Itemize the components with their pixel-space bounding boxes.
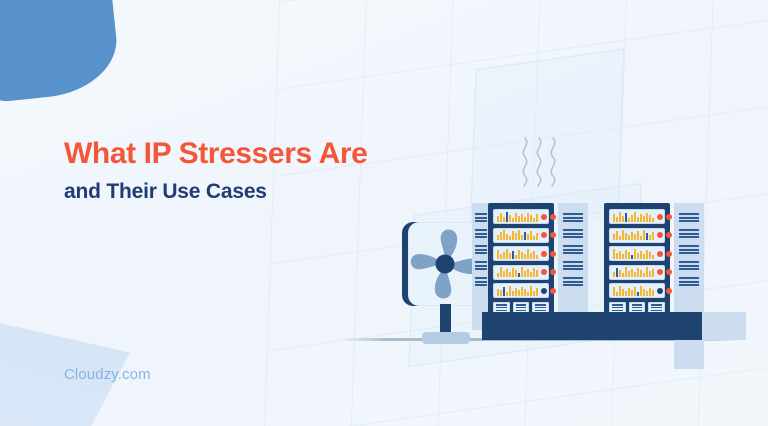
activity-bars <box>497 212 538 222</box>
status-leds <box>541 288 556 294</box>
status-leds <box>657 269 672 275</box>
decorative-blob-top-left <box>0 0 122 106</box>
status-leds <box>541 251 556 257</box>
fan-base <box>422 332 470 344</box>
activity-bars <box>497 286 538 296</box>
status-leds <box>657 232 672 238</box>
server-unit <box>493 228 549 243</box>
side-panel-right <box>674 203 704 369</box>
grid-line-horizontal <box>279 0 768 3</box>
status-leds <box>541 232 556 238</box>
grid-line-horizontal <box>276 11 768 90</box>
server-rack-right <box>604 203 670 330</box>
server-unit <box>609 265 665 280</box>
banner-graphic: What IP Stressers Are and Their Use Case… <box>0 0 768 426</box>
status-leds <box>541 214 556 220</box>
status-leds <box>657 251 672 257</box>
server-rack-left <box>488 203 554 330</box>
activity-bars <box>613 230 654 240</box>
illustration-server-racks <box>380 110 740 360</box>
status-leds <box>657 288 672 294</box>
server-unit <box>493 283 549 298</box>
side-panel-middle <box>558 203 588 330</box>
activity-bars <box>497 249 538 259</box>
server-unit <box>609 228 665 243</box>
server-unit <box>609 283 665 298</box>
server-unit <box>493 265 549 280</box>
activity-bars <box>497 230 538 240</box>
activity-bars <box>613 212 654 222</box>
grid-line-vertical <box>259 0 283 426</box>
server-unit <box>493 246 549 261</box>
server-unit <box>609 209 665 224</box>
server-unit <box>609 246 665 261</box>
activity-bars <box>613 249 654 259</box>
activity-bars <box>613 286 654 296</box>
heat-waves-icon <box>518 136 564 188</box>
server-unit <box>493 209 549 224</box>
brand-label: Cloudzy.com <box>64 366 151 383</box>
activity-bars <box>613 267 654 277</box>
activity-bars <box>497 267 538 277</box>
grid-line-vertical <box>347 0 371 426</box>
status-leds <box>657 214 672 220</box>
status-leds <box>541 269 556 275</box>
grid-line-horizontal <box>264 360 768 426</box>
platform-dark <box>482 312 702 340</box>
